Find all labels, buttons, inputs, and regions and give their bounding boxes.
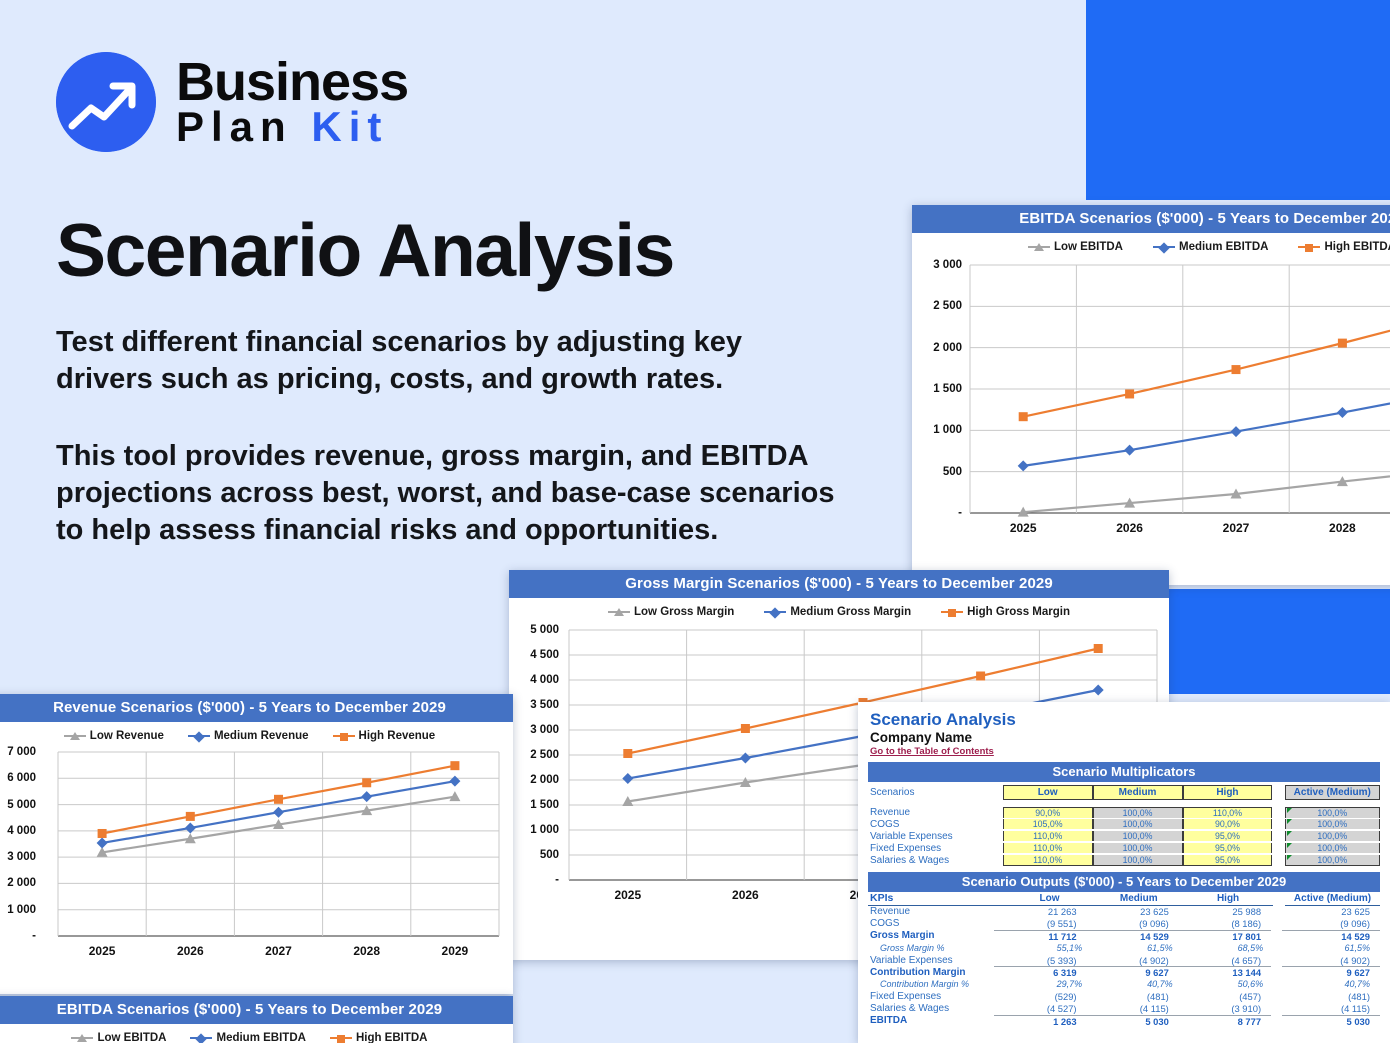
legend-label-high: High EBITDA: [1324, 241, 1390, 253]
multiplicator-row: Salaries & Wages110,0%100,0%95,0%100,0%: [868, 854, 1380, 866]
x-tick-label: 2028: [353, 944, 380, 958]
kpi-medium: 14 529: [1087, 930, 1179, 942]
kpi-low: 6 319: [994, 966, 1086, 978]
table-row: Revenue21 26323 62525 98823 625: [868, 905, 1380, 917]
table-row: Salaries & Wages(4 527)(4 115)(3 910)(4 …: [868, 1003, 1380, 1015]
multiplicator-high[interactable]: 95,0%: [1183, 843, 1273, 853]
kpi-label: Gross Margin: [868, 930, 994, 941]
multiplicator-active: 100,0%: [1285, 855, 1380, 866]
kpi-low: 29,7%: [1002, 979, 1093, 989]
x-tick-label: 2026: [1116, 521, 1143, 535]
kpi-medium: (4 902): [1087, 955, 1179, 966]
legend-line-blue-icon: [188, 735, 210, 737]
legend-item-medium: Medium EBITDA: [1153, 241, 1268, 253]
page-title: Scenario Analysis: [56, 207, 674, 293]
band-scenario-multiplicators: Scenario Multiplicators: [868, 762, 1380, 782]
legend-label-low: Low EBITDA: [1054, 241, 1123, 253]
multiplicator-row: Fixed Expenses110,0%100,0%95,0%100,0%: [868, 842, 1380, 854]
chart-card-ebitda-bottom: EBITDA Scenarios ($'000) - 5 Years to De…: [0, 996, 513, 1043]
multiplicator-label: Revenue: [868, 807, 1003, 818]
legend-label-low: Low EBITDA: [97, 1032, 166, 1043]
decorative-blue-block-middle: [1168, 589, 1390, 694]
multiplicator-label: Salaries & Wages: [868, 855, 1003, 866]
square-marker-icon: [340, 733, 348, 741]
kpi-low: 11 712: [994, 930, 1086, 942]
table-row: Variable Expenses(5 393)(4 902)(4 657)(4…: [868, 954, 1380, 966]
legend-item-medium: Medium Revenue: [188, 730, 309, 742]
legend-item-medium: Medium Gross Margin: [764, 606, 911, 618]
kpi-active: 9 627: [1282, 966, 1380, 978]
x-tick-label: 2027: [1223, 521, 1250, 535]
hero-paragraph-2: This tool provides revenue, gross margin…: [56, 438, 846, 549]
column-header-active: Active (Medium): [1285, 785, 1380, 800]
multiplicator-low[interactable]: 110,0%: [1003, 843, 1093, 853]
outputs-body: Revenue21 26323 62525 98823 625COGS(9 55…: [868, 905, 1380, 1027]
multiplicator-active: 100,0%: [1285, 831, 1380, 841]
legend-item-high: High Gross Margin: [941, 606, 1070, 618]
kpi-high: (457): [1179, 991, 1271, 1002]
kpi-low: 55,1%: [1002, 943, 1093, 953]
multiplicator-medium[interactable]: 100,0%: [1093, 807, 1183, 818]
kpi-active: 5 030: [1282, 1015, 1380, 1027]
kpi-active: 40,7%: [1284, 979, 1380, 989]
legend-label-high: High Gross Margin: [967, 606, 1070, 618]
table-row: Gross Margin11 71214 52917 80114 529: [868, 930, 1380, 942]
table-row: Contribution Margin %29,7%40,7%50,6%40,7…: [868, 978, 1380, 990]
legend-line-blue-icon: [1153, 246, 1175, 248]
kpi-label: Contribution Margin: [868, 967, 994, 978]
triangle-marker-icon: [614, 608, 624, 616]
brand-name-line2: Plan Kit: [176, 108, 408, 147]
chart-card-revenue: Revenue Scenarios ($'000) - 5 Years to D…: [0, 694, 513, 994]
kpi-high: (4 657): [1179, 955, 1271, 966]
multiplicator-medium[interactable]: 100,0%: [1093, 843, 1183, 853]
kpi-high: 50,6%: [1183, 979, 1274, 989]
kpi-medium: (4 115): [1087, 1003, 1179, 1014]
diamond-marker-icon: [193, 731, 204, 742]
multiplicator-medium[interactable]: 100,0%: [1093, 855, 1183, 866]
kpi-medium: 9 627: [1087, 966, 1179, 978]
kpi-low: 21 263: [994, 906, 1086, 917]
kpi-active: 23 625: [1282, 906, 1380, 917]
legend-line-gray-icon: [1028, 246, 1050, 248]
column-header-low: Low: [1005, 893, 1094, 906]
table-row: EBITDA1 2635 0308 7775 030: [868, 1015, 1380, 1027]
chart-title-gross-margin: Gross Margin Scenarios ($'000) - 5 Years…: [509, 570, 1169, 598]
legend-label-medium: Medium Gross Margin: [790, 606, 911, 618]
decorative-blue-block-top: [1086, 0, 1390, 200]
table-row: Fixed Expenses(529)(481)(457)(481): [868, 991, 1380, 1003]
legend-item-high: High Revenue: [333, 730, 436, 742]
table-of-contents-link[interactable]: Go to the Table of Contents: [870, 746, 994, 757]
kpi-active: (9 096): [1282, 918, 1380, 929]
plot-svg-revenue: [0, 744, 513, 974]
kpi-low: (5 393): [994, 955, 1086, 966]
kpi-label: COGS: [868, 918, 994, 929]
legend-item-low: Low EBITDA: [1028, 241, 1123, 253]
kpi-label: Gross Margin %: [868, 943, 1002, 953]
kpi-medium: 40,7%: [1092, 979, 1183, 989]
multiplicators-row-header: Scenarios: [868, 787, 1003, 798]
scenario-analysis-panel: Scenario Analysis Company Name Go to the…: [858, 702, 1390, 1043]
kpi-label: EBITDA: [868, 1015, 994, 1026]
legend-item-high: High EBITDA: [1298, 241, 1390, 253]
chart-legend-ebitda-top: Low EBITDA Medium EBITDA High EBITDA: [912, 233, 1390, 255]
column-header-medium: Medium: [1094, 893, 1183, 906]
kpi-active: (4 115): [1282, 1003, 1380, 1014]
chart-legend-gross-margin: Low Gross Margin Medium Gross Margin Hig…: [509, 598, 1169, 620]
x-tick-label: 2029: [442, 944, 469, 958]
legend-line-orange-icon: [333, 735, 355, 737]
legend-line-gray-icon: [71, 1037, 93, 1039]
chart-legend-revenue: Low Revenue Medium Revenue High Revenue: [0, 722, 513, 744]
kpi-medium: (9 096): [1087, 918, 1179, 929]
kpi-active: (481): [1282, 991, 1380, 1002]
kpi-active: 14 529: [1282, 930, 1380, 942]
kpi-label: Fixed Expenses: [868, 991, 994, 1002]
multiplicator-low[interactable]: 110,0%: [1003, 855, 1093, 866]
kpi-high: 68,5%: [1183, 943, 1274, 953]
legend-line-orange-icon: [941, 611, 963, 613]
kpi-high: (3 910): [1179, 1003, 1271, 1014]
x-tick-label: 2026: [177, 944, 204, 958]
multiplicator-low[interactable]: 105,0%: [1003, 819, 1093, 829]
multiplicator-high[interactable]: 110,0%: [1183, 807, 1273, 818]
kpi-high: 13 144: [1179, 966, 1271, 978]
band-scenario-outputs: Scenario Outputs ($'000) - 5 Years to De…: [868, 872, 1380, 892]
column-header-low: Low: [1003, 785, 1093, 800]
triangle-marker-icon: [77, 1034, 87, 1042]
legend-label-low: Low Gross Margin: [634, 606, 734, 618]
kpi-label: Contribution Margin %: [868, 979, 1002, 989]
triangle-marker-icon: [1034, 243, 1044, 251]
kpi-low: (529): [994, 991, 1086, 1002]
legend-line-blue-icon: [764, 611, 786, 613]
brand-name-line1: Business: [176, 58, 408, 108]
kpi-high: 8 777: [1179, 1015, 1271, 1027]
legend-item-high: High EBITDA: [330, 1032, 428, 1043]
multiplicator-row: Variable Expenses110,0%100,0%95,0%100,0%: [868, 830, 1380, 842]
multiplicator-label: COGS: [868, 819, 1003, 830]
multiplicator-row: COGS105,0%100,0%90,0%100,0%: [868, 818, 1380, 830]
x-tick-label: 2025: [89, 944, 116, 958]
triangle-marker-icon: [70, 732, 80, 740]
multiplicator-label: Fixed Expenses: [868, 843, 1003, 854]
multiplicator-low[interactable]: 90,0%: [1003, 807, 1093, 818]
plot-area-ebitda-top: -5001 0001 5002 0002 5003 000 2025202620…: [912, 255, 1390, 555]
kpi-low: (4 527): [994, 1003, 1086, 1014]
kpi-label: Salaries & Wages: [868, 1003, 994, 1014]
kpi-medium: 23 625: [1087, 906, 1179, 917]
kpi-medium: (481): [1087, 991, 1179, 1002]
x-tick-label: 2027: [265, 944, 292, 958]
column-header-active: Active (Medium): [1285, 893, 1380, 906]
kpi-medium: 5 030: [1087, 1015, 1179, 1027]
plot-svg-ebitda-top: [912, 255, 1390, 555]
scenario-panel-title: Scenario Analysis: [870, 710, 1016, 730]
brand-logo: Business Plan Kit: [56, 52, 408, 152]
legend-label-high: High Revenue: [359, 730, 436, 742]
chart-card-ebitda-top: EBITDA Scenarios ($'000) - 5 Years to De…: [912, 205, 1390, 585]
multiplicator-active: 100,0%: [1285, 819, 1380, 829]
multiplicator-high[interactable]: 95,0%: [1183, 831, 1273, 841]
legend-line-orange-icon: [1298, 246, 1320, 248]
multiplicator-medium[interactable]: 100,0%: [1093, 831, 1183, 841]
scenario-panel-company: Company Name: [870, 730, 972, 745]
multiplicator-active: 100,0%: [1285, 807, 1380, 818]
legend-line-gray-icon: [608, 611, 630, 613]
scenario-multiplicators-table: Scenarios Low Medium High Active (Medium…: [868, 784, 1380, 866]
diamond-marker-icon: [1158, 242, 1169, 253]
kpi-active: (4 902): [1282, 955, 1380, 966]
multiplicators-body: Revenue90,0%100,0%110,0%100,0%COGS105,0%…: [868, 806, 1380, 866]
chart-title-ebitda-top: EBITDA Scenarios ($'000) - 5 Years to De…: [912, 205, 1390, 233]
square-marker-icon: [337, 1035, 345, 1043]
outputs-row-header: KPIs: [868, 892, 1005, 906]
multiplicators-header-row: Scenarios Low Medium High Active (Medium…: [868, 784, 1380, 800]
kpi-label: Variable Expenses: [868, 955, 994, 966]
kpi-high: (8 186): [1179, 918, 1271, 929]
multiplicator-medium[interactable]: 100,0%: [1093, 819, 1183, 829]
kpi-high: 17 801: [1179, 930, 1271, 942]
multiplicator-high[interactable]: 95,0%: [1183, 855, 1273, 866]
table-row: Gross Margin %55,1%61,5%68,5%61,5%: [868, 942, 1380, 954]
hero-paragraph-1: Test different financial scenarios by ad…: [56, 324, 846, 398]
column-header-high: High: [1183, 893, 1272, 906]
square-marker-icon: [1305, 244, 1313, 252]
multiplicator-low[interactable]: 110,0%: [1003, 831, 1093, 841]
diamond-marker-icon: [196, 1033, 207, 1043]
x-tick-label: 2025: [614, 888, 641, 902]
legend-label-medium: Medium EBITDA: [216, 1032, 305, 1043]
legend-item-low: Low Gross Margin: [608, 606, 734, 618]
x-tick-label: 2026: [732, 888, 759, 902]
growth-arrow-circle-icon: [56, 52, 156, 152]
multiplicator-high[interactable]: 90,0%: [1183, 819, 1273, 829]
legend-item-low: Low Revenue: [64, 730, 164, 742]
square-marker-icon: [948, 609, 956, 617]
x-tick-label: 2028: [1329, 521, 1356, 535]
chart-title-revenue: Revenue Scenarios ($'000) - 5 Years to D…: [0, 694, 513, 722]
diamond-marker-icon: [770, 607, 781, 618]
scenario-outputs-table: KPIs Low Medium High Active (Medium) Rev…: [868, 893, 1380, 1027]
slide-canvas: Business Plan Kit Scenario Analysis Test…: [0, 0, 1390, 1043]
multiplicator-row: Revenue90,0%100,0%110,0%100,0%: [868, 806, 1380, 818]
kpi-medium: 61,5%: [1092, 943, 1183, 953]
column-header-medium: Medium: [1093, 785, 1183, 800]
kpi-high: 25 988: [1179, 906, 1271, 917]
column-header-high: High: [1183, 785, 1273, 800]
x-tick-label: 2025: [1010, 521, 1037, 535]
table-row: Contribution Margin6 3199 62713 1449 627: [868, 966, 1380, 978]
multiplicator-active: 100,0%: [1285, 843, 1380, 853]
legend-label-low: Low Revenue: [90, 730, 164, 742]
legend-label-medium: Medium Revenue: [214, 730, 309, 742]
multiplicator-label: Variable Expenses: [868, 831, 1003, 842]
chart-legend-ebitda-bottom: Low EBITDA Medium EBITDA High EBITDA: [0, 1024, 513, 1043]
kpi-active: 61,5%: [1284, 943, 1380, 953]
kpi-low: 1 263: [994, 1015, 1086, 1027]
legend-label-medium: Medium EBITDA: [1179, 241, 1268, 253]
legend-item-low: Low EBITDA: [71, 1032, 166, 1043]
chart-title-ebitda-bottom: EBITDA Scenarios ($'000) - 5 Years to De…: [0, 996, 513, 1024]
table-row: COGS(9 551)(9 096)(8 186)(9 096): [868, 917, 1380, 929]
outputs-header-row: KPIs Low Medium High Active (Medium): [868, 893, 1380, 905]
legend-item-medium: Medium EBITDA: [190, 1032, 305, 1043]
kpi-low: (9 551): [994, 918, 1086, 929]
kpi-label: Revenue: [868, 906, 994, 917]
plot-area-revenue: -1 0002 0003 0004 0005 0006 0007 000 202…: [0, 744, 513, 974]
legend-line-blue-icon: [190, 1037, 212, 1039]
legend-line-gray-icon: [64, 735, 86, 737]
legend-label-high: High EBITDA: [356, 1032, 428, 1043]
legend-line-orange-icon: [330, 1037, 352, 1039]
